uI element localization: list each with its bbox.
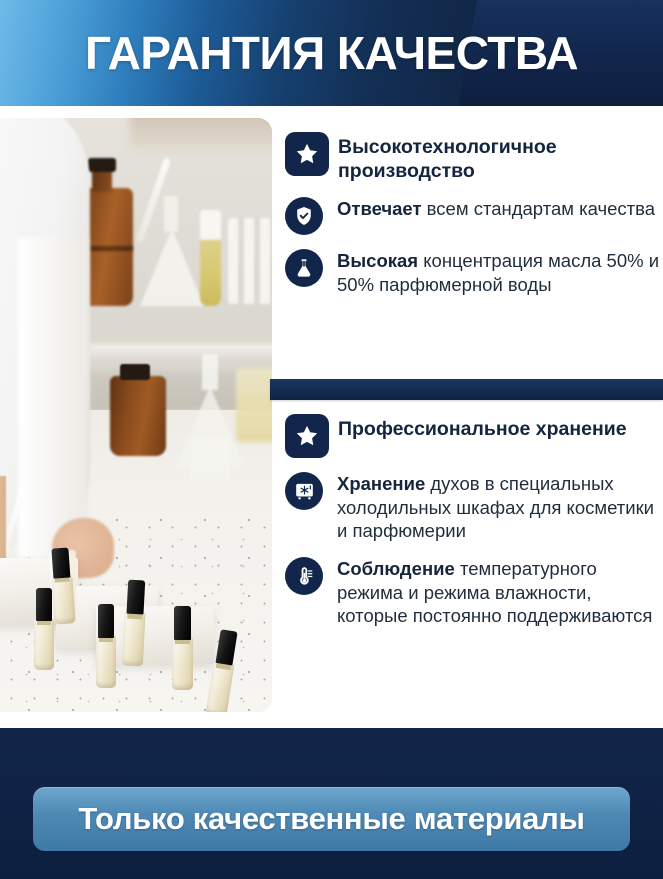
feature-item-concentration: Высокая концентрация масла 50% и 50% пар… [285,248,663,296]
photo-perfume-vial [34,588,54,670]
feature-label-rest: всем стандартам качества [422,198,656,219]
photo-amber-bottle-cap [88,158,116,172]
feature-label-bold: Высокая [337,250,418,271]
features-column: Высокотехнологичное производство Отвечае… [285,106,663,728]
quality-materials-label: Только качественные материалы [78,801,584,837]
feature-label-bold: Отвечает [337,198,422,219]
photo-beaker [190,436,230,480]
photo-shelf [60,344,272,360]
feature-label-bold: Хранение [337,473,425,494]
quality-materials-banner: Только качественные материалы [33,787,630,851]
vial-glass [51,576,75,624]
photo-amber-bottle-2 [110,376,166,456]
feature-group-storage: Профессиональное хранение [285,414,663,641]
vial-glass [122,612,146,666]
photo-flask-lower-neck [202,354,218,390]
header-banner: ГАРАНТИЯ КАЧЕСТВА [0,0,663,106]
footer-banner: Только качественные материалы [0,728,663,879]
photo-lab-coat-fold [18,238,88,558]
page-title: ГАРАНТИЯ КАЧЕСТВА [0,30,663,76]
section-divider [270,379,663,400]
photo-flask-upper [140,228,204,306]
feature-item-high-tech: Высокотехнологичное производство [285,132,663,183]
photo-perfume-vial [122,580,147,667]
photo-perfume-vial [96,604,116,688]
photo-flask-upper-neck [164,196,178,232]
feature-item-temperature: Соблюдение температурного режима и режим… [285,556,663,628]
vial-cap [126,580,145,615]
laboratory-photo [0,118,272,712]
feature-label: Профессиональное хранение [338,414,627,441]
feature-label: Высокая концентрация масла 50% и 50% пар… [337,248,663,296]
photo-scene [0,118,272,712]
flask-icon [285,249,323,287]
shield-check-icon [285,197,323,235]
feature-item-professional-storage: Профессиональное хранение [285,414,663,458]
fridge-snowflake-icon [285,472,323,510]
thermometer-icon [285,557,323,595]
photo-perfume-vial [172,606,193,690]
vial-cap [98,604,115,638]
star-icon [285,132,329,176]
photo-test-tube [200,210,221,306]
feature-label: Высокотехнологичное производство [338,132,663,183]
vial-cap [51,547,71,579]
feature-label-bold: Соблюдение [337,558,455,579]
photo-test-tube-rack [228,218,272,304]
photo-shelf-top [130,118,272,154]
vial-glass [96,636,116,688]
star-icon [285,414,329,458]
vial-cap [36,588,53,621]
feature-item-standards: Отвечает всем стандартам качества [285,196,663,235]
feature-label: Хранение духов в специальных холодильных… [337,471,663,543]
vial-cap [174,606,192,640]
feature-item-fridge-storage: Хранение духов в специальных холодильных… [285,471,663,543]
feature-label: Соблюдение температурного режима и режим… [337,556,663,628]
vial-glass [172,638,193,690]
vial-cap [215,629,238,666]
vial-glass [34,619,54,670]
feature-group-production: Высокотехнологичное производство Отвечае… [285,132,663,310]
photo-amber-bottle-2-cap [120,364,150,380]
main-content: Высокотехнологичное производство Отвечае… [0,106,663,728]
feature-label: Отвечает всем стандартам качества [337,196,655,221]
